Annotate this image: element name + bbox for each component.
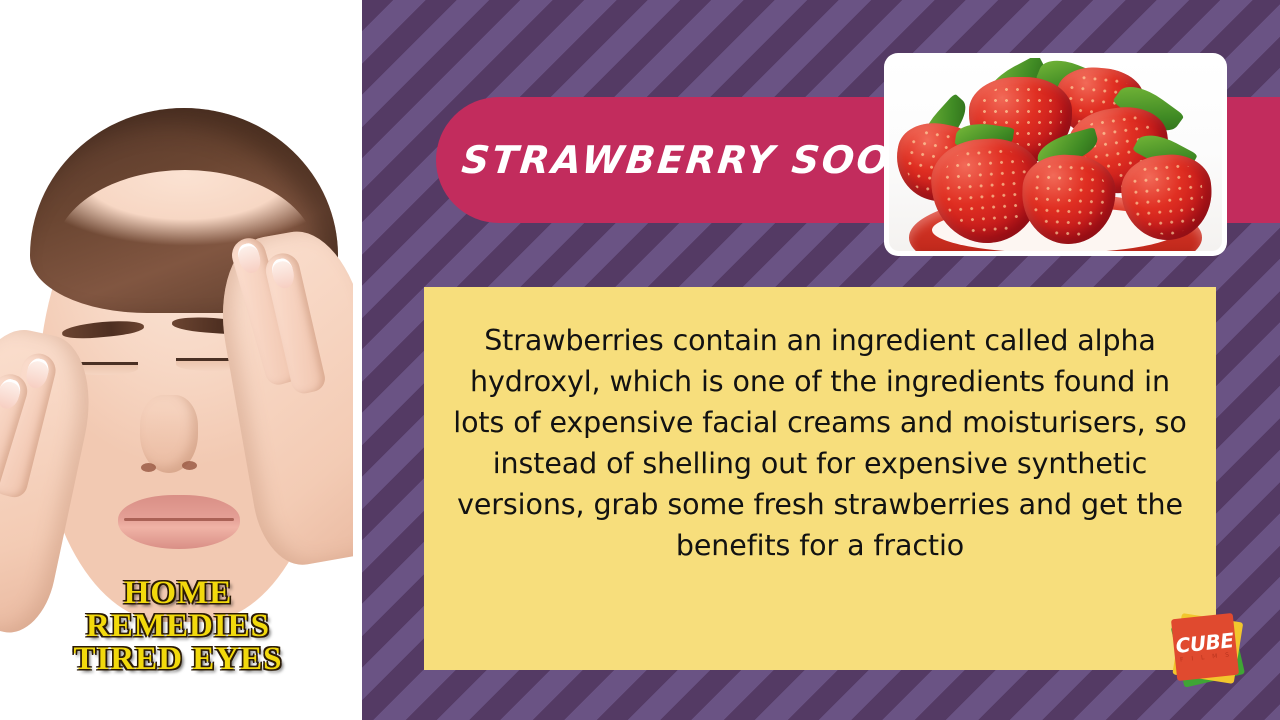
photo-edge-divider (353, 0, 356, 720)
logo-layer-red: CUBE F I L M S (1171, 613, 1239, 681)
fingernail (0, 377, 23, 412)
body-text-box: Strawberries contain an ingredient calle… (424, 287, 1216, 670)
caption-line-2: REMEDIES (0, 610, 356, 643)
photo-caption-overlay: HOME REMEDIES TIRED EYES (0, 577, 356, 676)
nostril-left (141, 463, 156, 472)
lips-shape (118, 495, 240, 549)
caption-line-3: TIRED EYES (0, 643, 356, 676)
left-photo-panel: HOME REMEDIES TIRED EYES (0, 0, 356, 720)
video-slide: HOME REMEDIES TIRED EYES STRAWBERRY SOOT… (0, 0, 1280, 720)
body-paragraph: Strawberries contain an ingredient calle… (446, 320, 1194, 566)
caption-line-1: HOME (0, 577, 356, 610)
strawberry-image-card (884, 53, 1227, 256)
strawberry-photo (889, 58, 1222, 251)
nostril-right (182, 461, 197, 470)
fingernail (269, 256, 296, 290)
fingernail (24, 356, 52, 390)
fingernail (235, 241, 263, 276)
cube-logo: CUBE F I L M S (1168, 610, 1250, 692)
